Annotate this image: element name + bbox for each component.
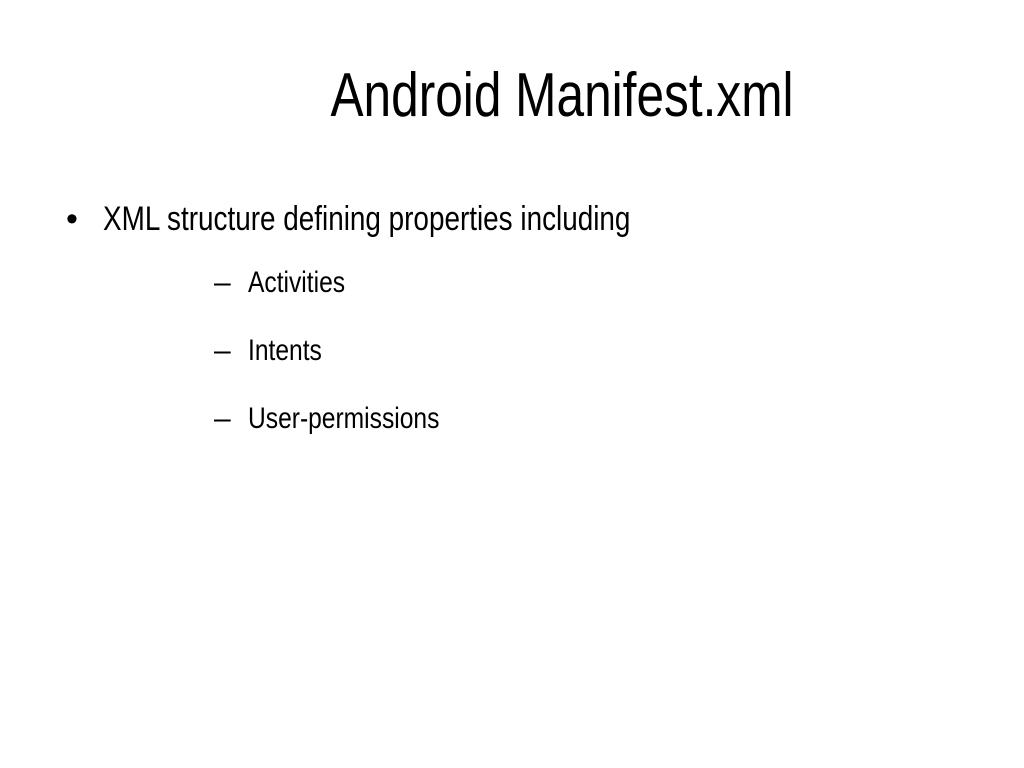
bullet-dash-icon: – [214, 265, 242, 301]
list-item: • XML structure defining properties incl… [0, 196, 1024, 243]
page-title: Android Manifest.xml [162, 62, 962, 130]
list-item: – Activities [0, 265, 1024, 301]
list-item-label: Activities [248, 265, 345, 301]
bullet-dash-icon: – [214, 333, 242, 369]
list-item: – Intents [0, 333, 1024, 369]
presentation-slide: Android Manifest.xml • XML structure def… [0, 0, 1024, 768]
list-item-label: XML structure defining properties includ… [103, 196, 630, 243]
bullet-dash-icon: – [214, 401, 242, 437]
list-item-label: Intents [248, 333, 322, 369]
slide-body-content: • XML structure defining properties incl… [0, 196, 1024, 469]
list-item-label: User-permissions [248, 401, 439, 437]
list-item: – User-permissions [0, 401, 1024, 437]
bullet-dot-icon: • [66, 196, 96, 243]
